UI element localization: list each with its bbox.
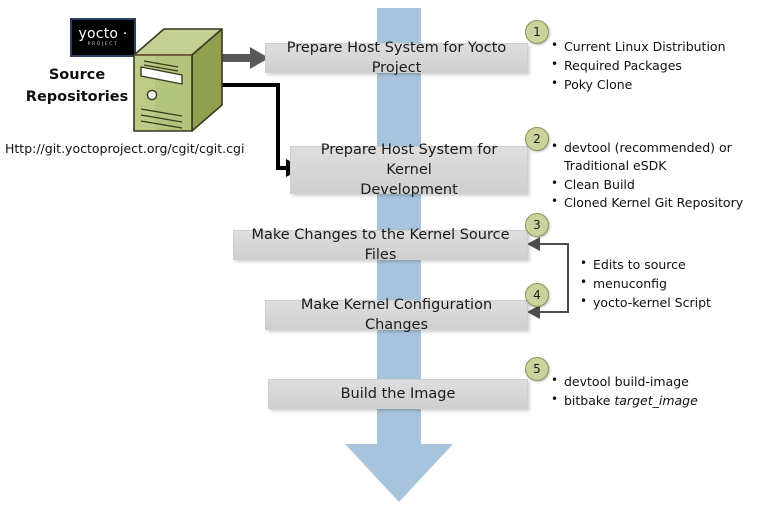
list-item: Edits to source <box>580 256 760 274</box>
bullet-list-step-2: devtool (recommended) or Traditional eSD… <box>551 139 761 213</box>
bracket-vertical-segment <box>567 243 569 313</box>
process-box-2-line-2: Development <box>299 180 519 200</box>
process-box-2-line-1: Prepare Host System for Kernel <box>299 140 519 180</box>
bracket-step4-segment <box>537 311 569 313</box>
bullet-list-steps-3-and-4: Edits to source menuconfig yocto-kernel … <box>580 256 760 312</box>
bracket-step3-arrowhead <box>527 237 540 251</box>
list-item: bitbake target_image <box>551 392 761 410</box>
server-tower-icon <box>132 27 224 142</box>
logo-wordmark: yocto · <box>79 27 128 41</box>
process-box-make-kernel-config-changes[interactable]: Make Kernel Configuration Changes <box>265 300 528 330</box>
list-item: Cloned Kernel Git Repository <box>551 194 761 212</box>
process-box-prepare-host-yocto[interactable]: Prepare Host System for Yocto Project <box>265 43 528 73</box>
connector-server-to-step2-segment-2 <box>276 83 280 168</box>
list-item: devtool build-image <box>551 373 761 391</box>
process-box-prepare-host-kernel[interactable]: Prepare Host System for Kernel Developme… <box>290 146 528 194</box>
bitbake-target-image-arg: target_image <box>614 393 697 408</box>
source-label-line-2: Repositories <box>14 86 140 108</box>
list-item: Poky Clone <box>551 76 761 94</box>
list-item: menuconfig <box>580 275 760 293</box>
step-number-badge-3: 3 <box>525 213 549 237</box>
bullet-list-step-1: Current Linux Distribution Required Pack… <box>551 38 761 94</box>
flow-arrow-head <box>345 444 453 502</box>
list-item: Clean Build <box>551 176 761 194</box>
bracket-step4-arrowhead <box>527 305 540 319</box>
bullet-list-step-5: devtool build-image bitbake target_image <box>551 373 761 411</box>
process-box-build-the-image[interactable]: Build the Image <box>268 379 528 409</box>
list-item: Current Linux Distribution <box>551 38 761 56</box>
list-item: devtool (recommended) or Traditional eSD… <box>551 139 761 175</box>
yocto-project-logo: yocto · PROJECT <box>70 18 136 57</box>
step-number-badge-5: 5 <box>525 357 549 381</box>
step-number-badge-4: 4 <box>525 283 549 307</box>
source-repositories-label: Source Repositories <box>14 64 140 109</box>
bracket-step3-segment <box>537 243 569 245</box>
logo-subtext: PROJECT <box>88 43 119 48</box>
diagram-canvas: yocto · PROJECT Source Repositories Http… <box>0 0 769 517</box>
list-item: Required Packages <box>551 57 761 75</box>
process-box-make-kernel-source-changes[interactable]: Make Changes to the Kernel Source Files <box>233 230 528 260</box>
step-number-badge-2: 2 <box>525 127 549 151</box>
list-item: yocto-kernel Script <box>580 294 760 312</box>
connector-server-to-step2-segment-1 <box>216 83 280 87</box>
source-repository-url: Http://git.yoctoproject.org/cgit/cgit.cg… <box>5 141 244 156</box>
step-number-badge-1: 1 <box>525 20 549 44</box>
source-label-line-1: Source <box>14 64 140 86</box>
bitbake-command-prefix: bitbake <box>564 393 614 408</box>
